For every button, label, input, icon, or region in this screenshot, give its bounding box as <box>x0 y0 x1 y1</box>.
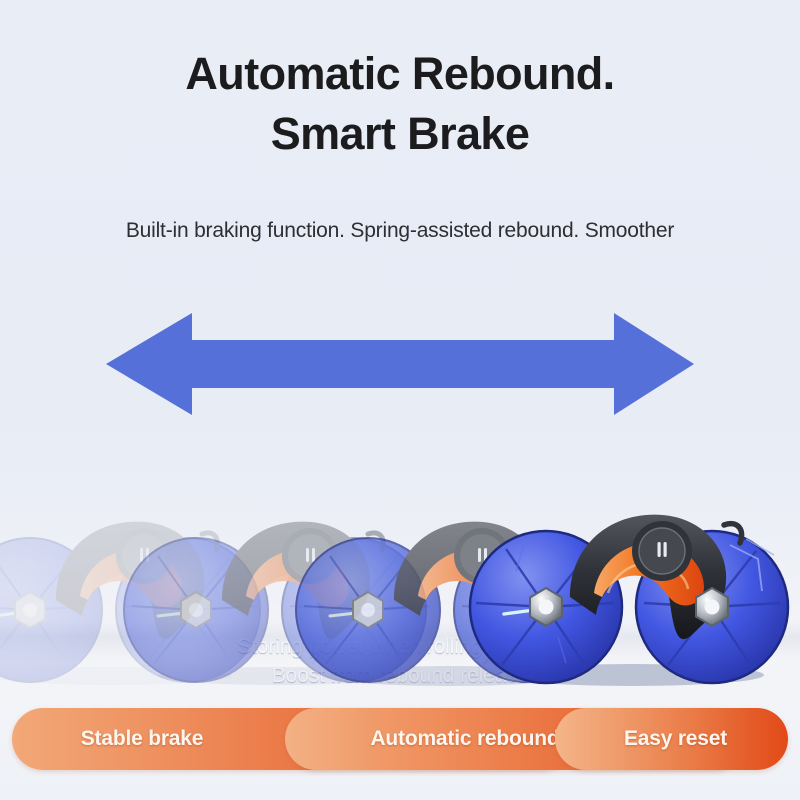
headline-line-1: Automatic Rebound. <box>185 48 614 99</box>
rebound-arrow-banner: Storing power when rolling forward. Boos… <box>0 300 800 428</box>
promo-banner: Automatic Rebound. Smart Brake Built-in … <box>0 0 800 800</box>
product-motion-sequence <box>0 455 800 690</box>
page-title: Automatic Rebound. Smart Brake <box>0 44 800 164</box>
feature-pill-label: Easy reset <box>624 727 727 751</box>
ab-roller-solid <box>462 475 800 690</box>
double-arrow-icon <box>0 300 800 428</box>
headline-line-2: Smart Brake <box>0 104 800 164</box>
feature-pill-label: Automatic rebound <box>370 727 559 751</box>
feature-pill-bar: Stable brake Automatic rebound Easy rese… <box>0 708 800 770</box>
feature-pill-label: Stable brake <box>81 727 204 751</box>
feature-pill-easy-reset[interactable]: Easy reset <box>555 708 788 770</box>
subtitle: Built-in braking function. Spring-assist… <box>0 219 800 243</box>
